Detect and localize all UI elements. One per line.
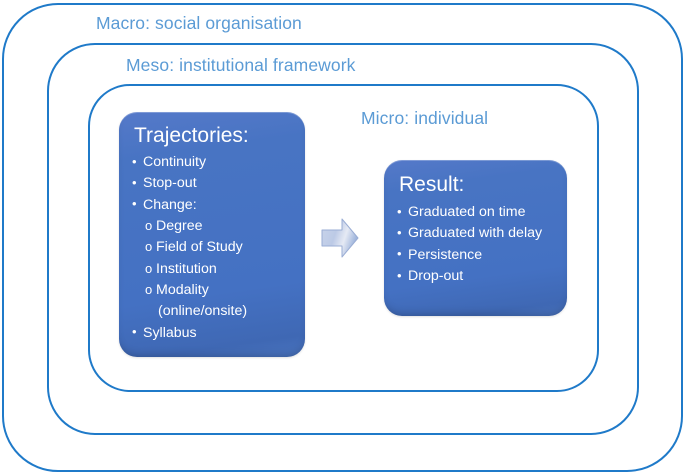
list-item: Degree xyxy=(132,216,305,237)
trajectories-box: Trajectories: Continuity Stop-out Change… xyxy=(119,112,305,357)
list-item: Drop-out xyxy=(397,266,567,287)
trajectories-list: Continuity Stop-out Change: Degree Field… xyxy=(119,152,305,344)
diagram-canvas: Macro: social organisation Meso: institu… xyxy=(0,0,685,475)
ring-label-meso: Meso: institutional framework xyxy=(126,55,356,76)
result-list: Graduated on time Graduated with delay P… xyxy=(384,202,567,287)
list-item: Institution xyxy=(132,259,305,280)
result-box: Result: Graduated on time Graduated with… xyxy=(384,160,567,316)
list-item: Stop-out xyxy=(132,173,305,194)
result-title: Result: xyxy=(384,160,567,202)
list-item: Change: xyxy=(132,195,305,216)
ring-label-macro: Macro: social organisation xyxy=(96,13,302,34)
list-item: Field of Study xyxy=(132,237,305,258)
list-item: Continuity xyxy=(132,152,305,173)
list-item: Persistence xyxy=(397,245,567,266)
list-item: Graduated with delay xyxy=(397,223,567,244)
trajectories-title: Trajectories: xyxy=(119,112,305,152)
list-item: Syllabus xyxy=(132,323,305,344)
list-item: Graduated on time xyxy=(397,202,567,223)
list-item: Modality xyxy=(132,280,305,301)
ring-label-micro: Micro: individual xyxy=(361,108,488,129)
right-arrow-icon xyxy=(320,216,360,260)
list-item: (online/onsite) xyxy=(132,301,305,322)
